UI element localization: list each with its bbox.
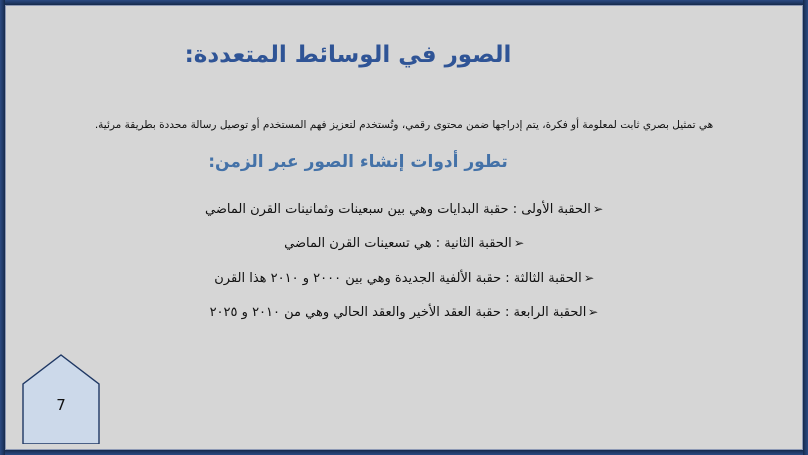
slide-body-paragraph: هي تمثيل بصري ثابت لمعلومة أو فكرة، يتم …: [46, 118, 762, 134]
slide-frame-right: [803, 0, 808, 455]
bullet-list: ➢الحقبة الأولى : حقبة البدايات وهي بين س…: [56, 202, 752, 339]
slide-content: الصور في الوسائط المتعددة: هي تمثيل بصري…: [6, 6, 802, 449]
slide-title: الصور في الوسائط المتعددة:: [34, 42, 774, 70]
list-item-label: الحقبة الثانية : هي تسعينات القرن الماضي: [284, 236, 512, 252]
list-item: ➢الحقبة الأولى : حقبة البدايات وهي بين س…: [56, 202, 752, 218]
slide-frame-bottom: [0, 450, 808, 455]
list-item: ➢الحقبة الثانية : هي تسعينات القرن الماض…: [56, 236, 752, 252]
slide: الصور في الوسائط المتعددة: هي تمثيل بصري…: [0, 0, 808, 455]
list-item: ➢الحقبة الرابعة : حقبة العقد الأخير والع…: [56, 305, 752, 321]
list-item-label: الحقبة الثالثة : حقبة الألفية الجديدة وه…: [214, 271, 581, 287]
arrowhead-bullet-icon: ➢: [588, 305, 599, 320]
arrowhead-bullet-icon: ➢: [583, 271, 594, 286]
slide-subtitle: تطور أدوات إنشاء الصور عبر الزمن:: [34, 152, 774, 173]
slide-canvas: الصور في الوسائط المتعددة: هي تمثيل بصري…: [5, 5, 803, 450]
page-number-label: 7: [21, 396, 101, 414]
list-item-label: الحقبة الأولى : حقبة البدايات وهي بين سب…: [205, 202, 591, 218]
list-item: ➢الحقبة الثالثة : حقبة الألفية الجديدة و…: [56, 271, 752, 287]
arrowhead-bullet-icon: ➢: [593, 202, 604, 217]
page-number-badge: 7: [21, 352, 101, 444]
list-item-label: الحقبة الرابعة : حقبة العقد الأخير والعق…: [210, 305, 587, 321]
arrowhead-bullet-icon: ➢: [514, 236, 525, 251]
